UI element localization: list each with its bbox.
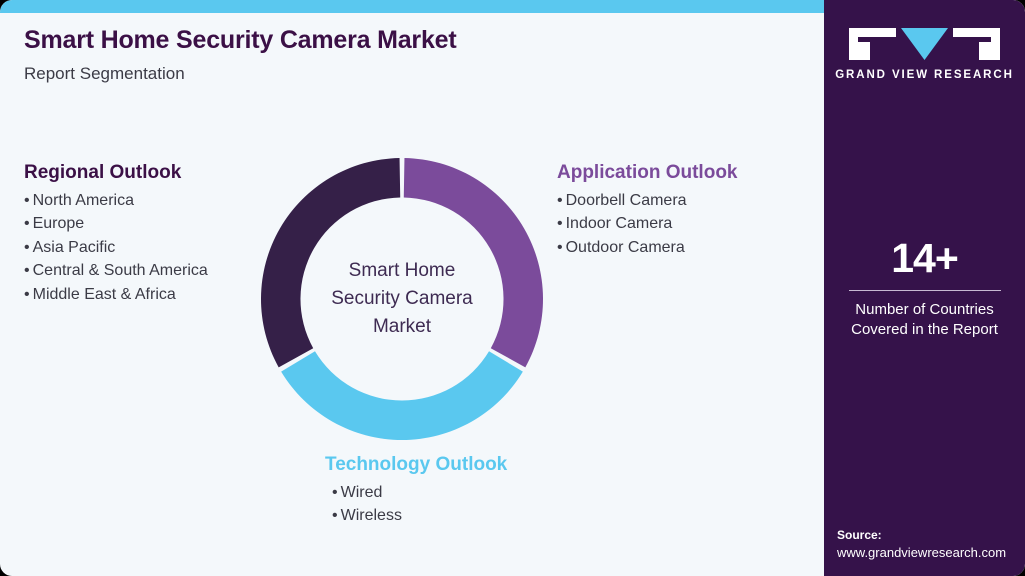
list-item: •Central & South America (24, 259, 208, 283)
list-item-label: Wireless (341, 507, 402, 524)
bullet-icon: • (332, 484, 338, 501)
list-item: •Asia Pacific (24, 236, 208, 260)
stat-value: 14+ (836, 238, 1013, 279)
logo-letter-r-icon (953, 28, 1000, 60)
logo-g-notch-b (870, 37, 896, 60)
technology-outlook-heading: Technology Outlook (325, 453, 507, 477)
donut-chart-svg (261, 158, 543, 440)
application-outlook-heading: Application Outlook (557, 161, 738, 185)
company-logo: GRAND VIEW RESEARCH (824, 28, 1025, 81)
bullet-icon: • (557, 192, 563, 209)
bullet-icon: • (24, 239, 30, 256)
donut-chart: Smart Home Security Camera Market (261, 158, 543, 440)
bullet-icon: • (24, 215, 30, 232)
bullet-icon: • (557, 239, 563, 256)
logo-mark (824, 28, 1025, 60)
donut-segments (261, 158, 543, 440)
application-outlook-list: •Doorbell Camera •Indoor Camera •Outdoor… (557, 189, 738, 260)
infographic-canvas: Smart Home Security Camera Market Report… (0, 0, 1025, 576)
stat-caption: Number of Countries Covered in the Repor… (836, 300, 1013, 341)
logo-triangle-v-icon (901, 28, 948, 60)
donut-segment (404, 158, 543, 367)
list-item: •Wireless (332, 504, 507, 528)
stat-block: 14+ Number of Countries Covered in the R… (836, 238, 1013, 341)
technology-outlook-list: •Wired •Wireless (325, 481, 507, 528)
stat-divider (849, 290, 1001, 291)
stat-caption-line-2: Covered in the Report (836, 320, 1013, 340)
header: Smart Home Security Camera Market Report… (24, 25, 804, 84)
regional-outlook-list: •North America •Europe •Asia Pacific •Ce… (24, 189, 208, 307)
application-outlook-block: Application Outlook •Doorbell Camera •In… (557, 161, 738, 259)
list-item-label: Indoor Camera (566, 215, 673, 232)
page-subtitle: Report Segmentation (24, 64, 804, 84)
logo-wordmark: GRAND VIEW RESEARCH (824, 69, 1025, 81)
bullet-icon: • (24, 262, 30, 279)
source-block: Source: www.grandviewresearch.com (837, 527, 1025, 562)
source-url[interactable]: www.grandviewresearch.com (837, 544, 1025, 562)
donut-segment (281, 351, 523, 440)
bullet-icon: • (24, 286, 30, 303)
bullet-icon: • (24, 192, 30, 209)
logo-letter-g-icon (849, 28, 896, 60)
list-item: •Outdoor Camera (557, 236, 738, 260)
list-item-label: Outdoor Camera (566, 239, 685, 256)
source-label: Source: (837, 527, 1025, 544)
list-item-label: Wired (341, 484, 383, 501)
list-item-label: North America (33, 192, 134, 209)
list-item-label: Asia Pacific (33, 239, 116, 256)
list-item-label: Central & South America (33, 262, 208, 279)
list-item: •Indoor Camera (557, 212, 738, 236)
list-item: •Middle East & Africa (24, 283, 208, 307)
list-item-label: Europe (33, 215, 85, 232)
list-item: •North America (24, 189, 208, 213)
list-item-label: Doorbell Camera (566, 192, 687, 209)
logo-r-notch-b (953, 37, 979, 60)
technology-outlook-block: Technology Outlook •Wired •Wireless (325, 453, 507, 528)
side-panel: GRAND VIEW RESEARCH 14+ Number of Countr… (824, 0, 1025, 576)
list-item: •Wired (332, 481, 507, 505)
page-title: Smart Home Security Camera Market (24, 25, 804, 55)
bullet-icon: • (332, 507, 338, 524)
stat-caption-line-1: Number of Countries (836, 300, 1013, 320)
donut-segment (261, 158, 400, 367)
list-item-label: Middle East & Africa (33, 286, 176, 303)
list-item: •Europe (24, 212, 208, 236)
top-accent-bar (0, 0, 824, 13)
regional-outlook-heading: Regional Outlook (24, 161, 208, 185)
bullet-icon: • (557, 215, 563, 232)
list-item: •Doorbell Camera (557, 189, 738, 213)
regional-outlook-block: Regional Outlook •North America •Europe … (24, 161, 208, 306)
